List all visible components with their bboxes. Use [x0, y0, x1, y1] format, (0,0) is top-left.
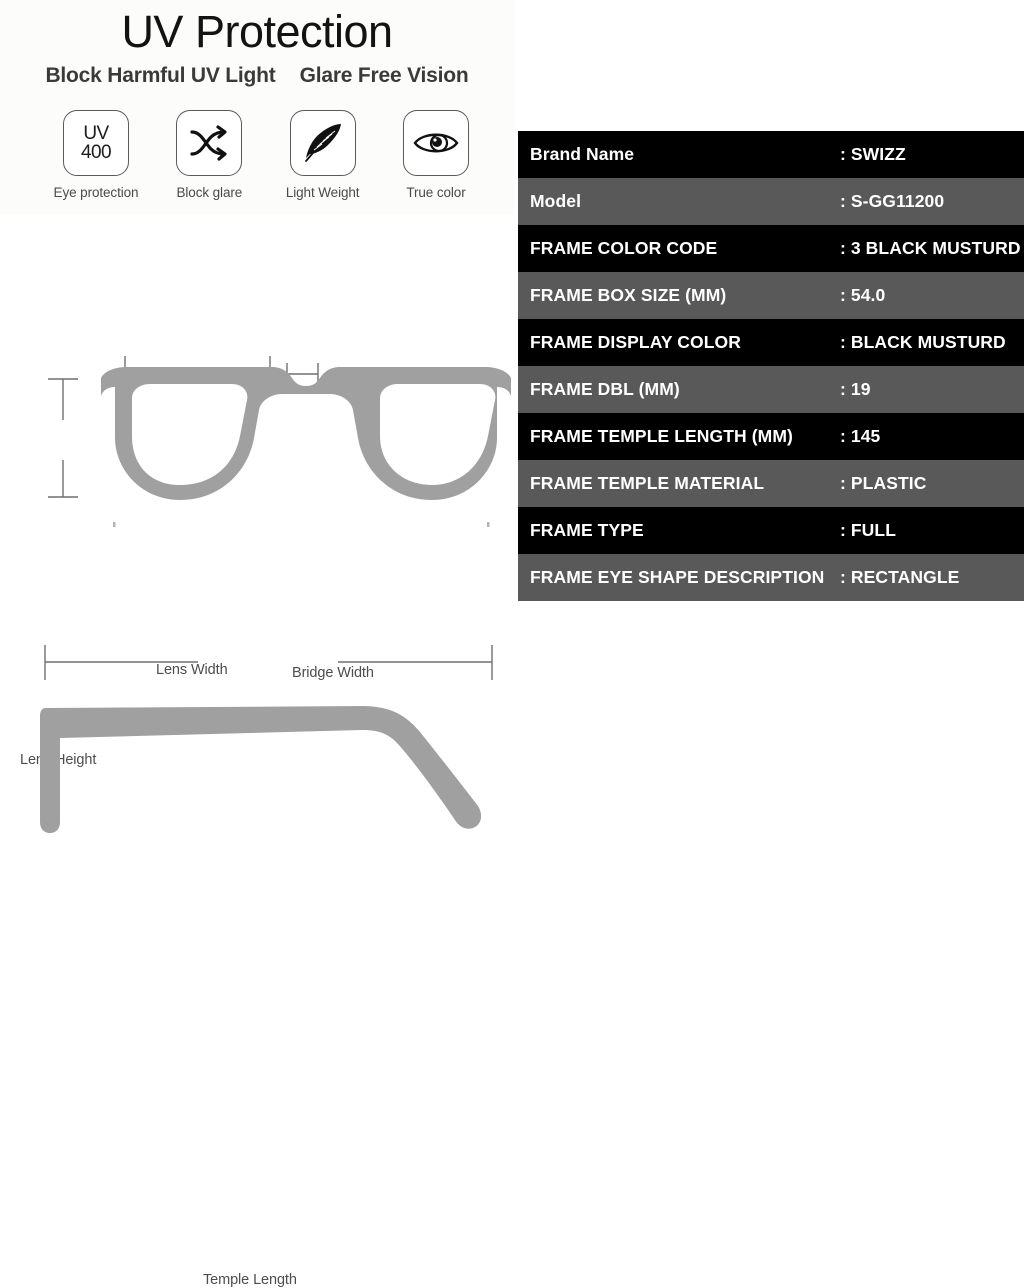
uv400-line2: 400 — [81, 143, 111, 163]
uv-protection-block: UV Protection Block Harmful UV Light Gla… — [0, 0, 514, 215]
feature-caption-eye-protection: Eye protection — [54, 185, 139, 200]
spec-key: FRAME BOX SIZE (MM) — [518, 272, 840, 319]
table-row: FRAME BOX SIZE (MM) : 54.0 — [518, 272, 1024, 319]
table-row: Model : S-GG11200 — [518, 178, 1024, 225]
spec-key: Brand Name — [518, 131, 840, 178]
table-row: FRAME DISPLAY COLOR : BLACK MUSTURD — [518, 319, 1024, 366]
spec-key: FRAME EYE SHAPE DESCRIPTION — [518, 554, 840, 601]
feather-icon — [290, 110, 356, 176]
spec-key: FRAME TEMPLE LENGTH (MM) — [518, 413, 840, 460]
specification-table: Brand Name : SWIZZ Model : S-GG11200 FRA… — [518, 131, 1024, 601]
spec-key: FRAME TYPE — [518, 507, 840, 554]
temple-frame-diagram: Temple Length — [0, 620, 514, 870]
product-spec-sheet: UV Protection Block Harmful UV Light Gla… — [0, 0, 1024, 886]
table-row: FRAME TEMPLE MATERIAL : PLASTIC — [518, 460, 1024, 507]
front-frame-diagram: Lens Width Bridge Width Lens Height — [0, 320, 514, 560]
spec-key: FRAME COLOR CODE — [518, 225, 840, 272]
spec-value: : 54.0 — [840, 272, 1024, 319]
feature-block-glare: Block glare — [159, 110, 259, 200]
spec-key: FRAME DBL (MM) — [518, 366, 840, 413]
spec-value: : S-GG11200 — [840, 178, 1024, 225]
feature-eye-protection: UV 400 Eye protection — [46, 110, 146, 200]
spec-value: : BLACK MUSTURD — [840, 319, 1024, 366]
spec-value: : 3 BLACK MUSTURD — [840, 225, 1024, 272]
feature-caption-block-glare: Block glare — [176, 185, 242, 200]
spec-value: : 19 — [840, 366, 1024, 413]
spec-value: : 145 — [840, 413, 1024, 460]
spec-key: Model — [518, 178, 840, 225]
feature-light-weight: Light Weight — [273, 110, 373, 200]
temple-frame-svg — [0, 620, 514, 870]
uv-protection-title: UV Protection — [0, 6, 514, 58]
feature-caption-light-weight: Light Weight — [286, 185, 360, 200]
shuffle-arrows-icon — [176, 110, 242, 176]
spec-value: : PLASTIC — [840, 460, 1024, 507]
eye-icon — [403, 110, 469, 176]
spec-value: : SWIZZ — [840, 131, 1024, 178]
uv400-icon: UV 400 — [63, 110, 129, 176]
table-row: FRAME TEMPLE LENGTH (MM) : 145 — [518, 413, 1024, 460]
uv-subtitle-glare-free: Glare Free Vision — [300, 64, 469, 88]
table-row: Brand Name : SWIZZ — [518, 131, 1024, 178]
spec-key: FRAME DISPLAY COLOR — [518, 319, 840, 366]
spec-value: : RECTANGLE — [840, 554, 1024, 601]
uv-subtitle-row: Block Harmful UV Light Glare Free Vision — [0, 64, 514, 88]
spec-value: : FULL — [840, 507, 1024, 554]
feature-caption-true-color: True color — [406, 185, 465, 200]
uv-subtitle-block-harmful: Block Harmful UV Light — [45, 64, 275, 88]
uv400-line1: UV — [81, 124, 111, 144]
feature-true-color: True color — [386, 110, 486, 200]
left-image-column: UV Protection Block Harmful UV Light Gla… — [0, 0, 514, 886]
spec-key: FRAME TEMPLE MATERIAL — [518, 460, 840, 507]
table-row: FRAME DBL (MM) : 19 — [518, 366, 1024, 413]
table-row: FRAME TYPE : FULL — [518, 507, 1024, 554]
label-temple-length: Temple Length — [203, 1272, 297, 1288]
feature-icon-row: UV 400 Eye protection — [46, 110, 486, 200]
table-row: FRAME EYE SHAPE DESCRIPTION : RECTANGLE — [518, 554, 1024, 601]
table-row: FRAME COLOR CODE : 3 BLACK MUSTURD — [518, 225, 1024, 272]
front-frame-svg — [0, 320, 514, 560]
